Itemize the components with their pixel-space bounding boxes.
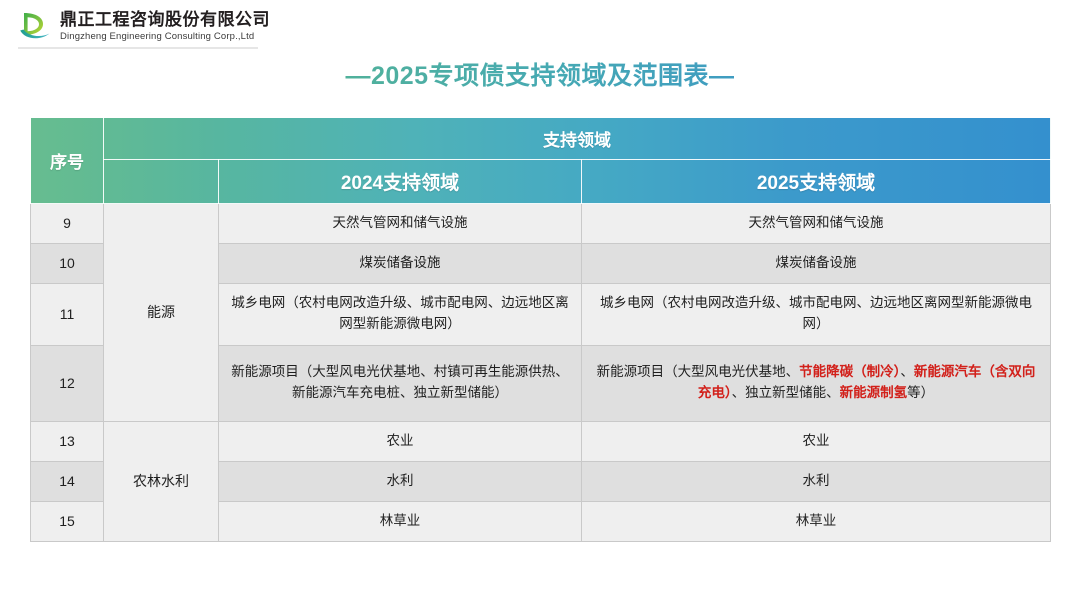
table-row: 9能源天然气管网和储气设施天然气管网和储气设施 bbox=[31, 204, 1051, 244]
plain-text: 农业 bbox=[803, 433, 830, 448]
cell-2025: 城乡电网（农村电网改造升级、城市配电网、边远地区离网型新能源微电网） bbox=[582, 283, 1051, 345]
row-index: 15 bbox=[31, 501, 104, 541]
plain-text: 天然气管网和储气设施 bbox=[749, 215, 884, 230]
header-category-blank bbox=[104, 160, 219, 204]
cell-2024: 水利 bbox=[219, 461, 582, 501]
brand-header: 鼎正工程咨询股份有限公司 Dingzheng Engineering Consu… bbox=[18, 5, 270, 47]
plain-text: 等） bbox=[907, 385, 934, 400]
cell-2024: 煤炭储备设施 bbox=[219, 243, 582, 283]
table-row: 13农林水利农业农业 bbox=[31, 421, 1051, 461]
cell-2024: 林草业 bbox=[219, 501, 582, 541]
support-scope-table: 序号 支持领域 2024支持领域 2025支持领域 9能源天然气管网和储气设施天… bbox=[30, 117, 1051, 542]
brand-divider bbox=[18, 47, 258, 49]
company-name-en: Dingzheng Engineering Consulting Corp.,L… bbox=[60, 32, 270, 42]
row-index: 10 bbox=[31, 243, 104, 283]
plain-text: 城乡电网（农村电网改造升级、城市配电网、边远地区离网型新能源微电网） bbox=[600, 295, 1032, 331]
plain-text: 新能源项目（大型风电光伏基地、 bbox=[597, 364, 800, 379]
row-index: 14 bbox=[31, 461, 104, 501]
header-col-2025: 2025支持领域 bbox=[582, 160, 1051, 204]
plain-text: 煤炭储备设施 bbox=[776, 255, 857, 270]
company-name-cn: 鼎正工程咨询股份有限公司 bbox=[60, 11, 270, 28]
cell-2025: 农业 bbox=[582, 421, 1051, 461]
cell-2024: 农业 bbox=[219, 421, 582, 461]
row-index: 9 bbox=[31, 204, 104, 244]
dingzheng-d-logo-icon bbox=[18, 8, 54, 44]
category-cell: 农林水利 bbox=[104, 421, 219, 541]
row-index: 13 bbox=[31, 421, 104, 461]
cell-2025: 林草业 bbox=[582, 501, 1051, 541]
page-title: —2025专项债支持领域及范围表— bbox=[0, 56, 1080, 92]
plain-text: 水利 bbox=[803, 473, 830, 488]
table-body: 9能源天然气管网和储气设施天然气管网和储气设施10煤炭储备设施煤炭储备设施11城… bbox=[31, 204, 1051, 542]
table-head: 序号 支持领域 2024支持领域 2025支持领域 bbox=[31, 118, 1051, 204]
cell-2024: 天然气管网和储气设施 bbox=[219, 204, 582, 244]
cell-2025: 新能源项目（大型风电光伏基地、节能降碳（制冷）、新能源汽车（含双向充电）、独立新… bbox=[582, 345, 1051, 421]
row-index: 11 bbox=[31, 283, 104, 345]
cell-2024: 城乡电网（农村电网改造升级、城市配电网、边远地区离网型新能源微电网） bbox=[219, 283, 582, 345]
cell-2024: 新能源项目（大型风电光伏基地、村镇可再生能源供热、新能源汽车充电桩、独立新型储能… bbox=[219, 345, 582, 421]
highlighted-text: 节能降碳（制冷） bbox=[799, 364, 900, 379]
cell-2025: 水利 bbox=[582, 461, 1051, 501]
plain-text: 、 bbox=[900, 364, 914, 379]
header-group-support-area: 支持领域 bbox=[104, 118, 1051, 160]
header-seq: 序号 bbox=[31, 118, 104, 204]
category-cell: 能源 bbox=[104, 204, 219, 422]
header-col-2024: 2024支持领域 bbox=[219, 160, 582, 204]
cell-2025: 天然气管网和储气设施 bbox=[582, 204, 1051, 244]
cell-2025: 煤炭储备设施 bbox=[582, 243, 1051, 283]
row-index: 12 bbox=[31, 345, 104, 421]
plain-text: 、独立新型储能、 bbox=[732, 385, 840, 400]
support-scope-table-wrap: 序号 支持领域 2024支持领域 2025支持领域 9能源天然气管网和储气设施天… bbox=[30, 117, 1050, 542]
plain-text: 林草业 bbox=[796, 513, 837, 528]
highlighted-text: 新能源制氢 bbox=[840, 385, 908, 400]
